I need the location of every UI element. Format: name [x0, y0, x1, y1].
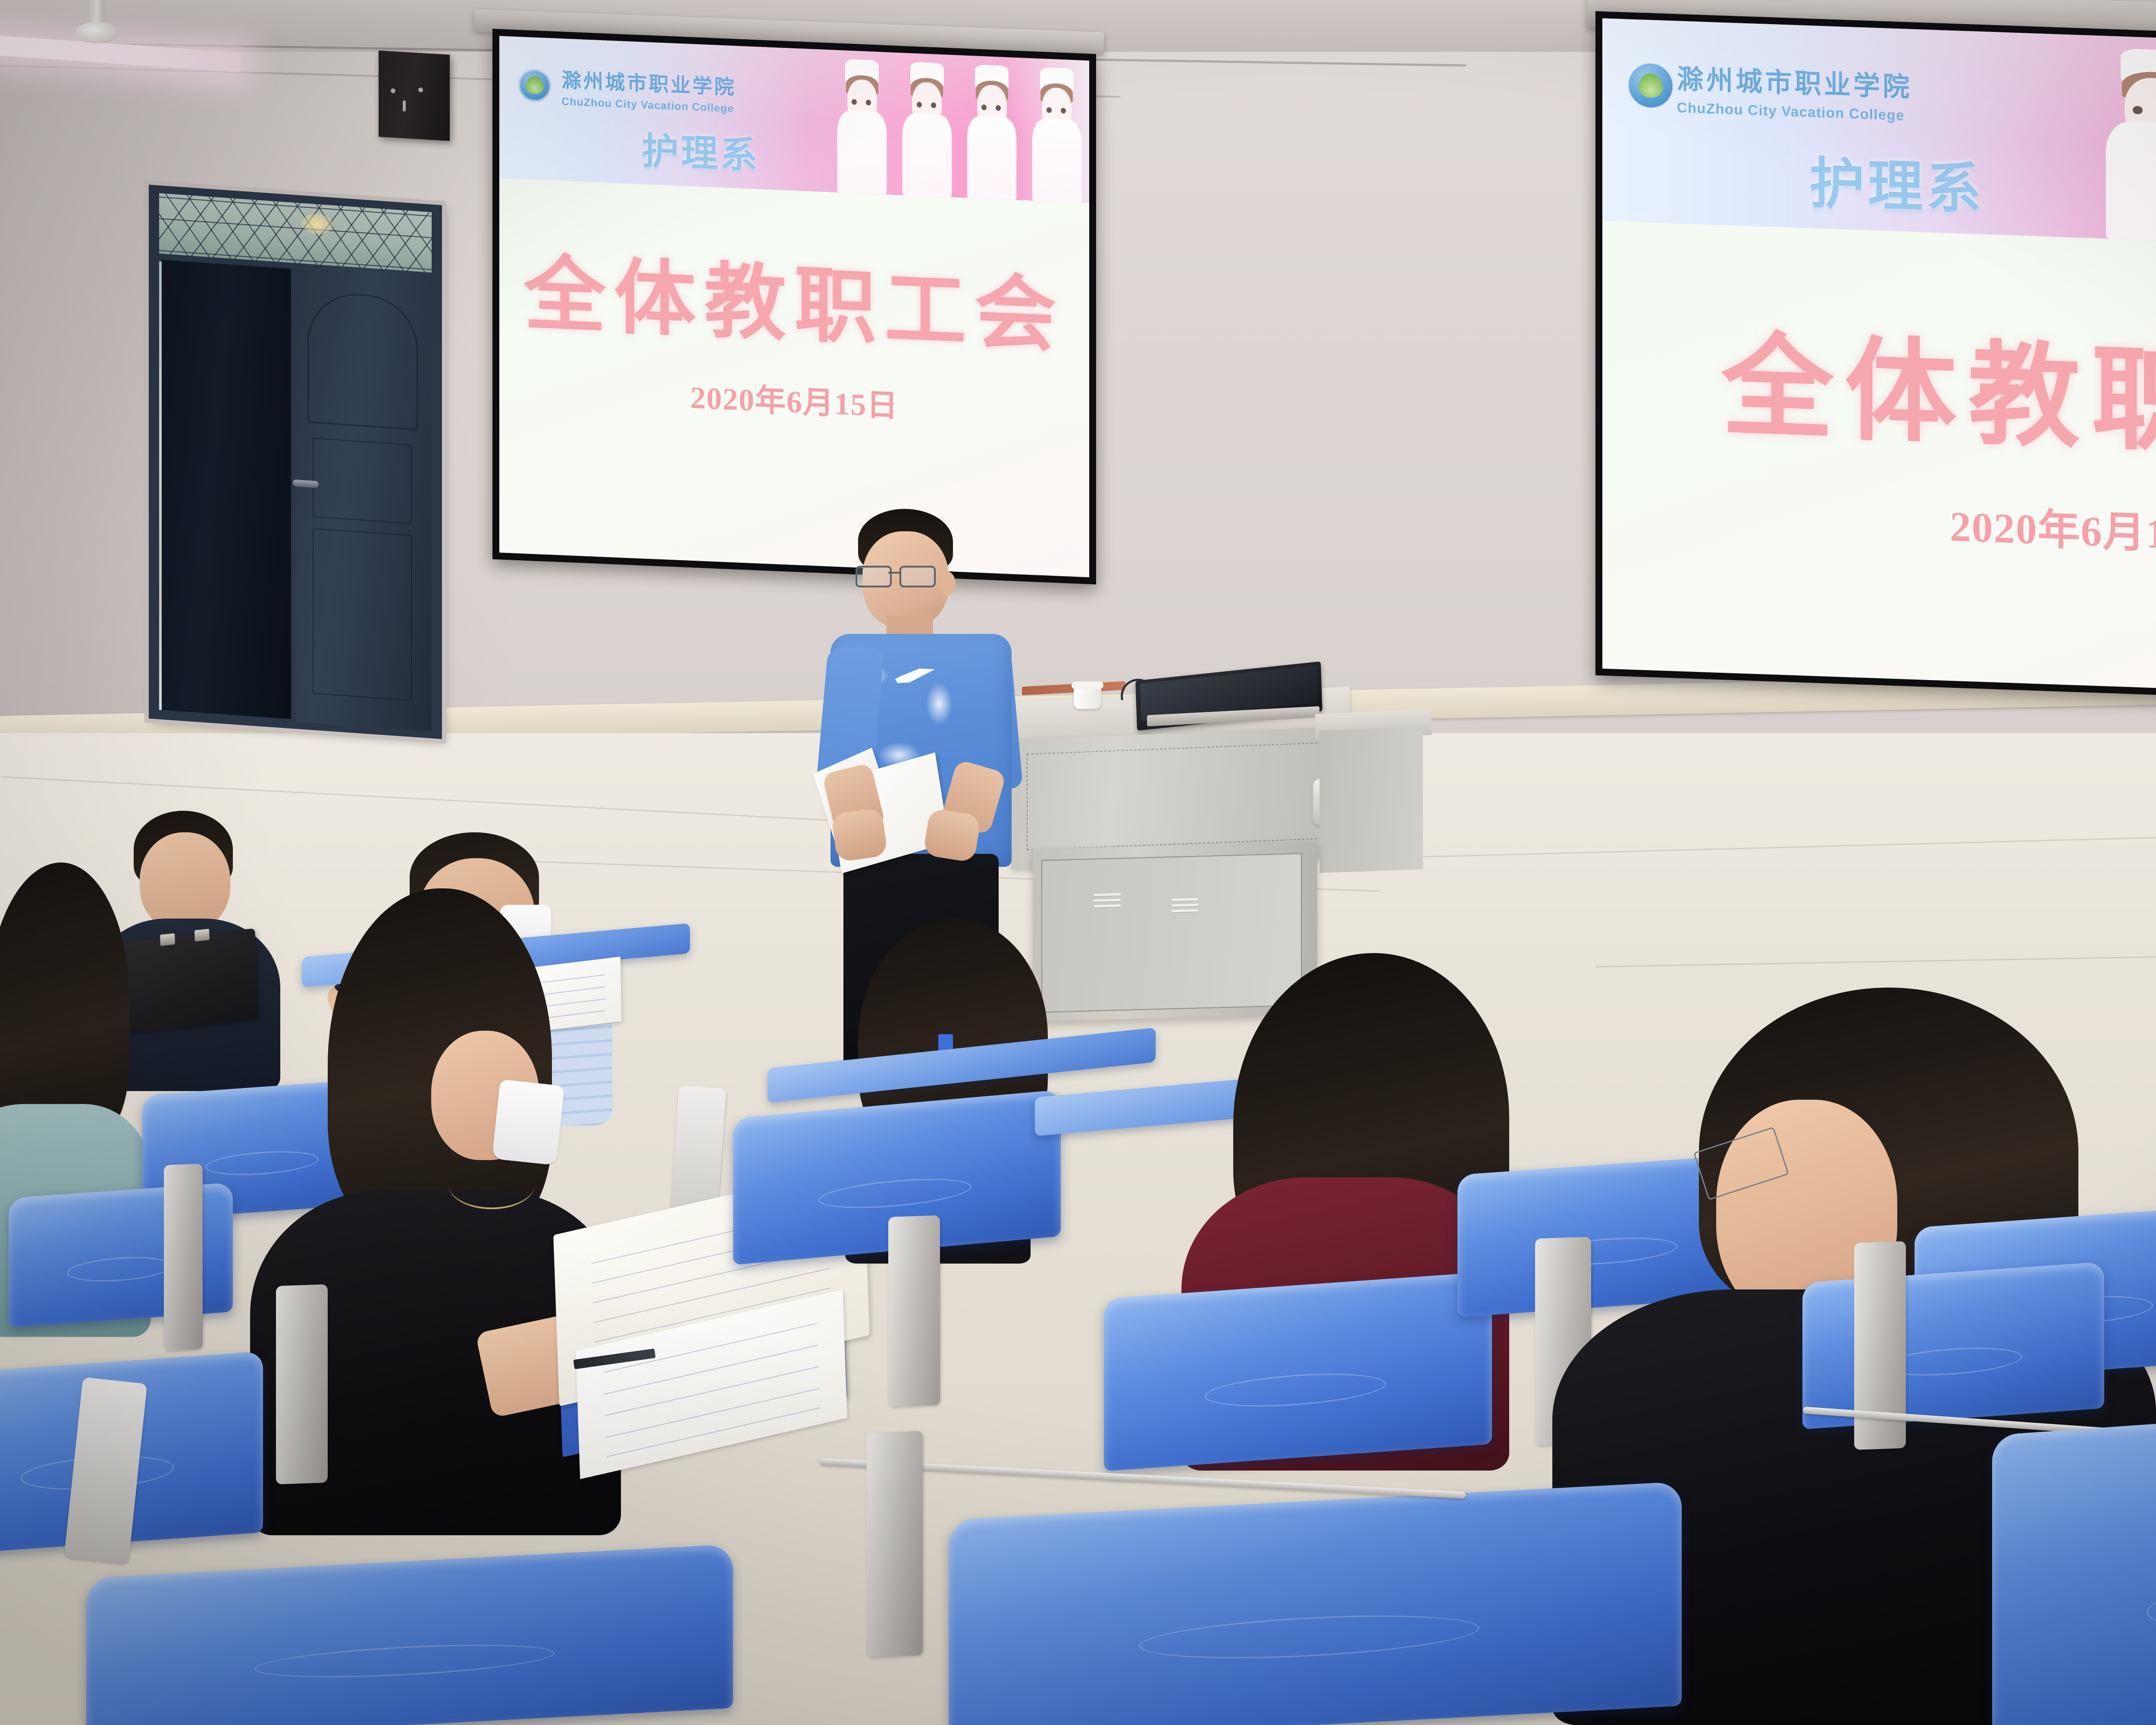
college-name-en: ChuZhou City Vacation College — [1677, 99, 1912, 124]
seat-post — [888, 1215, 940, 1407]
necklace — [448, 1160, 535, 1209]
paper-cup — [1074, 685, 1101, 709]
college-emblem-icon — [1628, 62, 1673, 109]
presenter-ear — [938, 571, 956, 596]
college-name-cn: 滁州城市职业学院 — [561, 64, 736, 100]
left-college-logo: 滁州城市职业学院 ChuZhou City Vacation College — [518, 63, 736, 115]
ceiling-fan-dome — [75, 22, 119, 43]
seat-post — [276, 1284, 328, 1484]
vent-slots-right — [1172, 898, 1198, 916]
seat[interactable] — [1104, 1272, 1492, 1471]
lattice-grille — [159, 193, 432, 273]
face-mask — [492, 1079, 565, 1166]
left-department-title: 护理系 — [642, 120, 759, 179]
left-slide-title: 全体教职工会 — [499, 226, 1089, 369]
ceiling-fan-mount — [88, 0, 105, 26]
left-slide: 滁州城市职业学院 ChuZhou City Vacation College 护… — [499, 36, 1089, 577]
door-handle[interactable] — [293, 480, 319, 488]
right-slide-header-band: 滁州城市职业学院 ChuZhou City Vacation College 护… — [1602, 18, 2156, 255]
right-nurse-illustration — [2091, 35, 2156, 255]
college-emblem-icon — [518, 68, 551, 102]
door-leaf-open[interactable] — [162, 260, 291, 719]
door-leaf-closed[interactable] — [295, 264, 432, 731]
college-name-en: ChuZhou City Vacation College — [561, 95, 736, 115]
left-projection-screen: 滁州城市职业学院 ChuZhou City Vacation College 护… — [492, 29, 1096, 585]
lecture-hall-photo: 滁州城市职业学院 ChuZhou City Vacation College 护… — [0, 0, 2156, 1725]
right-department-title: 护理系 — [1809, 138, 1985, 224]
seat-post — [867, 1431, 923, 1657]
college-name-cn: 滁州城市职业学院 — [1677, 57, 1912, 104]
right-slide: 滁州城市职业学院 ChuZhou City Vacation College 护… — [1602, 18, 2156, 703]
seat[interactable] — [1802, 1262, 2104, 1430]
wall-speaker — [379, 50, 450, 141]
seat[interactable] — [949, 1481, 1682, 1725]
presenter-hand-left — [831, 807, 888, 862]
right-slide-date: 2020年6月15日 — [1602, 480, 2156, 575]
right-college-logo: 滁州城市职业学院 ChuZhou City Vacation College — [1628, 55, 1912, 124]
transom-window — [159, 193, 432, 273]
door-left[interactable] — [149, 185, 442, 739]
left-slide-date: 2020年6月15日 — [499, 364, 1089, 433]
vent-slots-left — [1094, 893, 1121, 911]
left-slide-header-band: 滁州城市职业学院 ChuZhou City Vacation College 护… — [499, 36, 1089, 203]
seat[interactable] — [1992, 1394, 2156, 1725]
left-nurse-illustration — [830, 50, 1089, 203]
presenter-hand-right — [923, 808, 981, 862]
right-projection-screen: 滁州城市职业学院 ChuZhou City Vacation College 护… — [1595, 11, 2156, 710]
presenter-glasses-icon — [856, 566, 935, 585]
door-arch-panel — [307, 291, 418, 430]
right-slide-title: 全体教职工会 — [1602, 290, 2156, 486]
side-desk — [1319, 727, 1423, 873]
seat-post — [164, 1164, 203, 1350]
